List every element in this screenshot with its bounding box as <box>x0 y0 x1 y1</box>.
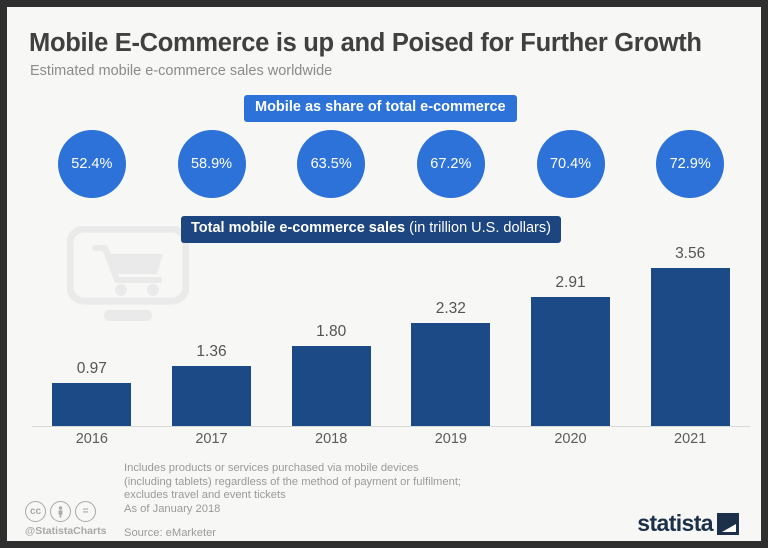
bar-value-label-2017: 1.36 <box>172 343 251 361</box>
cc-nd-equals-icon: = <box>75 501 96 522</box>
infographic-canvas: Mobile E-Commerce is up and Poised for F… <box>7 7 761 541</box>
shopping-cart-watermark-icon <box>67 226 189 324</box>
x-axis-label-2020: 2020 <box>511 431 631 447</box>
share-series-banner: Mobile as share of total e-commerce <box>244 95 517 122</box>
x-axis-label-2018: 2018 <box>271 431 391 447</box>
footnote-line-3: excludes travel and event tickets <box>124 489 461 503</box>
footnote-line-4: As of January 2018 <box>124 503 461 517</box>
share-bubble-2021: 72.9% <box>656 130 724 198</box>
statista-wordmark: statista <box>637 512 713 535</box>
bar-2016 <box>52 383 131 426</box>
infographic-frame: Mobile E-Commerce is up and Poised for F… <box>0 0 768 548</box>
bar-2018 <box>292 346 371 426</box>
total-sales-series-banner: Total mobile e-commerce sales (in trilli… <box>181 216 561 243</box>
cc-license-icon: cc <box>25 501 46 522</box>
bar-2019 <box>411 323 490 426</box>
x-axis-label-2019: 2019 <box>391 431 511 447</box>
bar-2021 <box>651 268 730 426</box>
source-note: Source: eMarketer <box>124 527 216 539</box>
cc-by-person-icon <box>50 501 71 522</box>
footnote-block: Includes products or services purchased … <box>124 462 461 516</box>
statista-handle: @StatistaCharts <box>25 525 117 537</box>
bar-value-label-2019: 2.32 <box>411 300 490 318</box>
share-bubble-2018: 63.5% <box>297 130 365 198</box>
bar-value-label-2018: 1.80 <box>292 323 371 341</box>
share-bubble-2017: 58.9% <box>178 130 246 198</box>
footnote-line-1: Includes products or services purchased … <box>124 462 461 476</box>
share-bubble-row: 52.4%58.9%63.5%67.2%70.4%72.9% <box>7 130 768 200</box>
cc-icon-row: cc = <box>25 501 117 522</box>
total-sales-banner-strong: Total mobile e-commerce sales <box>191 220 405 236</box>
statista-logo: statista <box>637 512 739 535</box>
x-axis-label-2016: 2016 <box>32 431 152 447</box>
bar-value-label-2021: 3.56 <box>651 245 730 263</box>
bar-value-label-2016: 0.97 <box>52 360 131 378</box>
bar-value-label-2020: 2.91 <box>531 274 610 292</box>
x-axis-label-2017: 2017 <box>152 431 272 447</box>
page-subtitle: Estimated mobile e-commerce sales worldw… <box>30 63 332 79</box>
page-title: Mobile E-Commerce is up and Poised for F… <box>29 29 749 58</box>
bar-2017 <box>172 366 251 426</box>
share-bubble-2020: 70.4% <box>537 130 605 198</box>
bar-2020 <box>531 297 610 426</box>
x-axis-label-2021: 2021 <box>630 431 750 447</box>
statista-logo-mark-icon <box>717 513 739 535</box>
x-axis-line <box>32 426 750 427</box>
footnote-line-2: (including tablets) regardless of the me… <box>124 476 461 490</box>
total-sales-banner-unit: (in trillion U.S. dollars) <box>409 220 551 236</box>
share-bubble-2019: 67.2% <box>417 130 485 198</box>
creative-commons-group: cc = @StatistaCharts <box>25 501 117 537</box>
share-bubble-2016: 52.4% <box>58 130 126 198</box>
